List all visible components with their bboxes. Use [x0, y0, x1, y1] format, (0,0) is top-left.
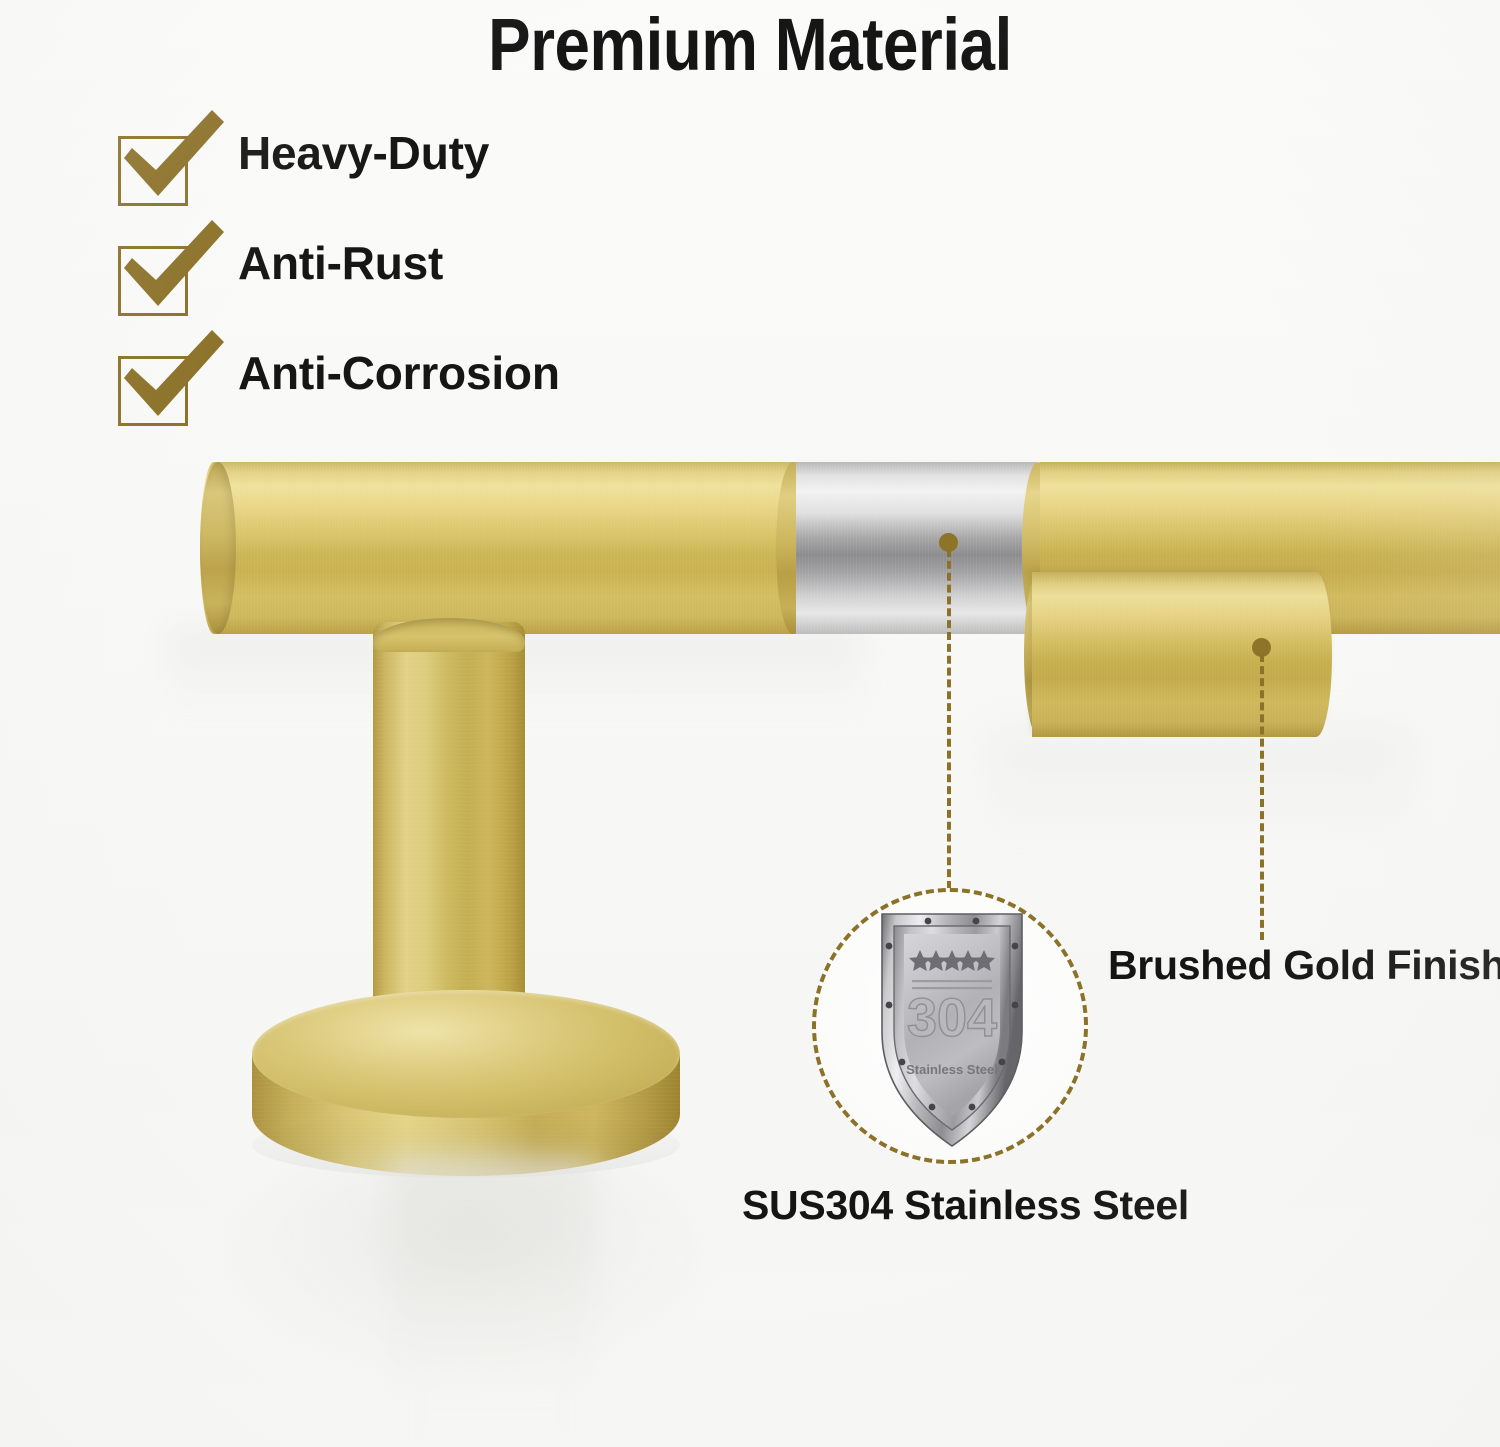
badge-material-text: Stainless Steel: [906, 1062, 998, 1077]
feature-label: Anti-Corrosion: [238, 346, 560, 400]
badge-grade-text: 304: [907, 988, 997, 1048]
steel-sleeve: [796, 462, 1036, 634]
callout-leader-line-finish: [1260, 654, 1264, 940]
secondary-gold-tube: [1032, 572, 1332, 737]
checkbox-outline: [118, 136, 188, 206]
stainless-steel-shield-badge: 304 Stainless Steel: [872, 902, 1032, 1154]
rail-gold-left-segment: [200, 462, 800, 634]
callout-label-finish: Brushed Gold Finish: [1108, 942, 1500, 989]
base-plate-top: [252, 990, 680, 1118]
right-rail-reflection: [990, 730, 1410, 860]
page-title: Premium Material: [105, 2, 1395, 87]
rail-left-end-cap: [200, 462, 236, 634]
callout-label-steel: SUS304 Stainless Steel: [742, 1182, 1189, 1229]
feature-label: Anti-Rust: [238, 236, 443, 290]
product-photo-stage: [0, 0, 1500, 1447]
bracket-stem: [373, 622, 525, 1042]
checkbox-outline: [118, 356, 188, 426]
callout-leader-line-steel: [947, 549, 951, 889]
base-reflection: [236, 1148, 706, 1368]
feature-label: Heavy-Duty: [238, 126, 489, 180]
checkbox-outline: [118, 246, 188, 316]
product-feature-image: Premium Material Heavy-Duty Anti-Rust An…: [0, 0, 1500, 1447]
